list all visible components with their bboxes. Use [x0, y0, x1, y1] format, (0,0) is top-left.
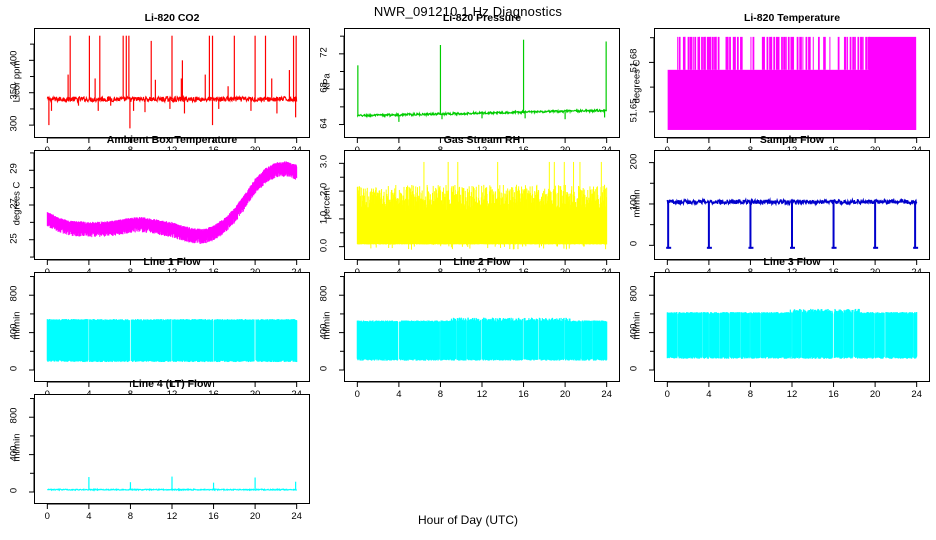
plot-area [34, 272, 310, 382]
plot-area [654, 28, 930, 138]
x-tick-label: 16 [820, 389, 848, 400]
y-axis-label: degrees C [12, 169, 23, 239]
panel-title: Ambient Box Temperature [34, 134, 310, 146]
data-trace [345, 273, 619, 381]
data-trace [345, 151, 619, 259]
data-trace [35, 151, 309, 259]
plot-area [34, 150, 310, 260]
panel-title: Gas Stream RH [344, 134, 620, 146]
panel-title: Line 4 (LT) Flow [34, 378, 310, 390]
x-tick-label: 8 [736, 389, 764, 400]
diagnostics-figure: NWR_091210 1 Hz Diagnostics Li-820 CO204… [0, 0, 936, 540]
x-tick-label: 20 [551, 389, 579, 400]
x-tick-label: 20 [861, 389, 889, 400]
global-x-axis-label: Hour of Day (UTC) [0, 513, 936, 527]
y-axis-label: ml/min [12, 413, 23, 483]
y-axis-label: degrees C [632, 47, 643, 117]
panel-title: Li-820 Temperature [654, 12, 930, 24]
plot-area [344, 272, 620, 382]
y-axis-label: Licor ppm [12, 47, 23, 117]
data-trace [655, 273, 929, 381]
panel-9: Line 3 Flow048121620240400800ml/min [620, 256, 930, 410]
x-tick-label: 24 [903, 389, 931, 400]
panel-title: Li-820 Pressure [344, 12, 620, 24]
y-axis-label: ml/min [632, 291, 643, 361]
plot-area [344, 150, 620, 260]
panel-title: Line 3 Flow [654, 256, 930, 268]
data-trace [345, 29, 619, 137]
x-tick-label: 12 [468, 389, 496, 400]
x-tick-label: 12 [778, 389, 806, 400]
x-tick-label: 16 [510, 389, 538, 400]
panel-title: Line 1 Flow [34, 256, 310, 268]
panel-title: Line 2 Flow [344, 256, 620, 268]
data-trace [655, 29, 929, 137]
plot-area [654, 150, 930, 260]
y-axis-label: ml/min [632, 169, 643, 239]
y-axis-label: percent [322, 169, 333, 239]
panel-8: Line 2 Flow048121620240400800ml/min [310, 256, 620, 410]
x-tick-label: 8 [426, 389, 454, 400]
panel-title: Sample Flow [654, 134, 930, 146]
plot-area [654, 272, 930, 382]
panel-title: Li-820 CO2 [34, 12, 310, 24]
x-tick-label: 24 [593, 389, 621, 400]
x-tick-label: 0 [343, 389, 371, 400]
data-trace [35, 273, 309, 381]
x-tick-label: 4 [385, 389, 413, 400]
plot-area [344, 28, 620, 138]
x-tick-label: 4 [695, 389, 723, 400]
data-trace [655, 151, 929, 259]
plot-area [34, 28, 310, 138]
data-trace [35, 395, 309, 503]
y-axis-label: kPa [322, 47, 333, 117]
x-tick-label: 0 [653, 389, 681, 400]
y-axis-label: ml/min [322, 291, 333, 361]
plot-area [34, 394, 310, 504]
data-trace [35, 29, 309, 137]
y-axis-label: ml/min [12, 291, 23, 361]
panel-10: Line 4 (LT) Flow048121620240400800ml/min [0, 378, 310, 532]
